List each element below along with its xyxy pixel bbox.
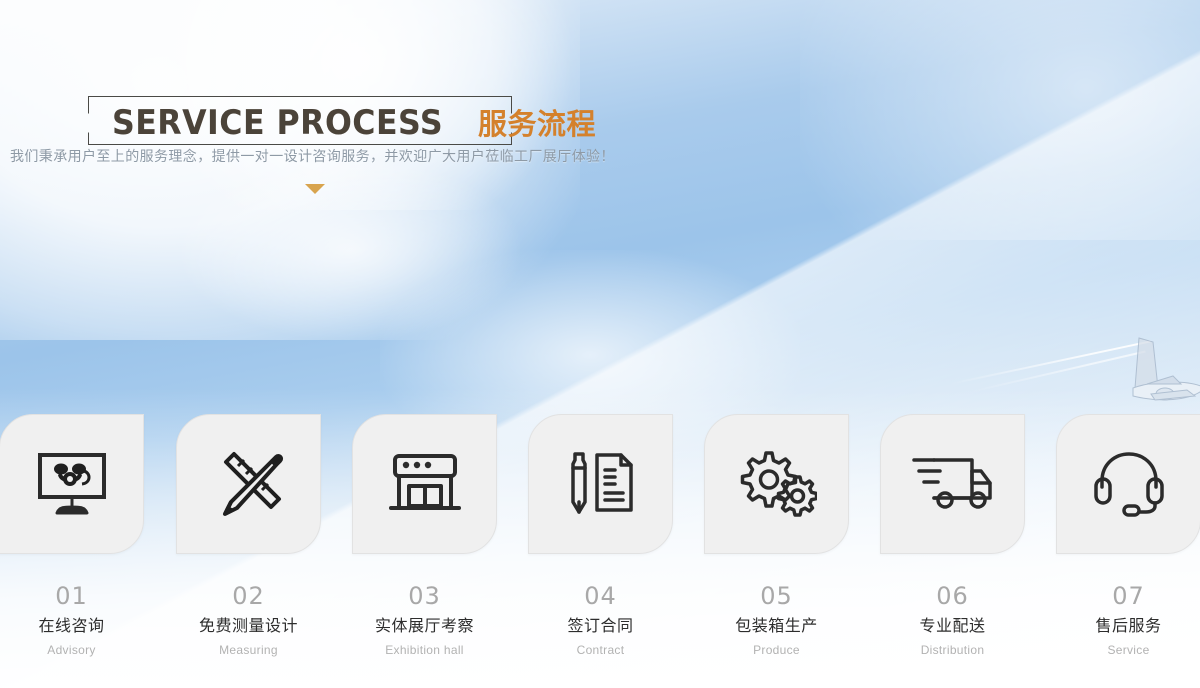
airplane-icon (1095, 332, 1200, 424)
step-label-cn: 售后服务 (1056, 618, 1200, 636)
delivery-truck-icon (910, 455, 996, 513)
pen-document-icon (565, 450, 637, 518)
step-item-06[interactable]: 06 专业配送 Distribution (880, 414, 1025, 657)
step-label-en: Contract (528, 643, 673, 657)
step-item-01[interactable]: 01 在线咨询 Advisory (0, 414, 144, 657)
process-steps: 01 在线咨询 Advisory (0, 414, 1200, 674)
step-icon-card[interactable] (880, 414, 1025, 554)
step-icon-card[interactable] (352, 414, 497, 554)
step-icon-card[interactable] (1056, 414, 1200, 554)
step-label-en: Exhibition hall (352, 643, 497, 657)
step-label-en: Distribution (880, 643, 1025, 657)
page-title: SERVICE PROCESS 服务流程 (112, 101, 596, 143)
step-label-en: Advisory (0, 643, 144, 657)
step-number: 04 (528, 584, 673, 608)
step-number: 05 (704, 584, 849, 608)
step-label-cn: 专业配送 (880, 618, 1025, 636)
step-item-05[interactable]: 05 包装箱生产 Produce (704, 414, 849, 657)
step-label-en: Measuring (176, 643, 321, 657)
step-label-en: Service (1056, 643, 1200, 657)
section-subtitle: 我们秉承用户至上的服务理念，提供一对一设计咨询服务，并欢迎广大用户莅临工厂展厅体… (10, 146, 615, 166)
step-icon-card[interactable] (704, 414, 849, 554)
step-icon-card[interactable] (528, 414, 673, 554)
step-item-07[interactable]: 07 售后服务 Service (1056, 414, 1200, 657)
step-icon-card[interactable] (0, 414, 144, 554)
step-number: 01 (0, 584, 144, 608)
step-label-en: Produce (704, 643, 849, 657)
step-number: 07 (1056, 584, 1200, 608)
step-item-04[interactable]: 04 签订合同 Contract (528, 414, 673, 657)
step-number: 06 (880, 584, 1025, 608)
step-label-cn: 签订合同 (528, 618, 673, 636)
monitor-telephone-icon (35, 451, 109, 517)
step-number: 02 (176, 584, 321, 608)
service-process-section: SERVICE PROCESS 服务流程 我们秉承用户至上的服务理念，提供一对一… (0, 0, 1200, 688)
title-chinese: 服务流程 (478, 101, 596, 143)
storefront-icon (387, 452, 463, 516)
title-english: SERVICE PROCESS (112, 103, 443, 143)
step-label-cn: 免费测量设计 (176, 618, 321, 636)
gears-icon (737, 451, 817, 517)
headset-icon (1093, 451, 1165, 517)
step-label-cn: 包装箱生产 (704, 618, 849, 636)
step-item-03[interactable]: 03 实体展厅考察 Exhibition hall (352, 414, 497, 657)
chevron-down-icon (305, 184, 325, 194)
step-item-02[interactable]: 02 免费测量设计 Measuring (176, 414, 321, 657)
step-label-cn: 实体展厅考察 (352, 618, 497, 636)
step-number: 03 (352, 584, 497, 608)
step-label-cn: 在线咨询 (0, 618, 144, 636)
step-icon-card[interactable] (176, 414, 321, 554)
ruler-pencil-icon (213, 450, 285, 518)
